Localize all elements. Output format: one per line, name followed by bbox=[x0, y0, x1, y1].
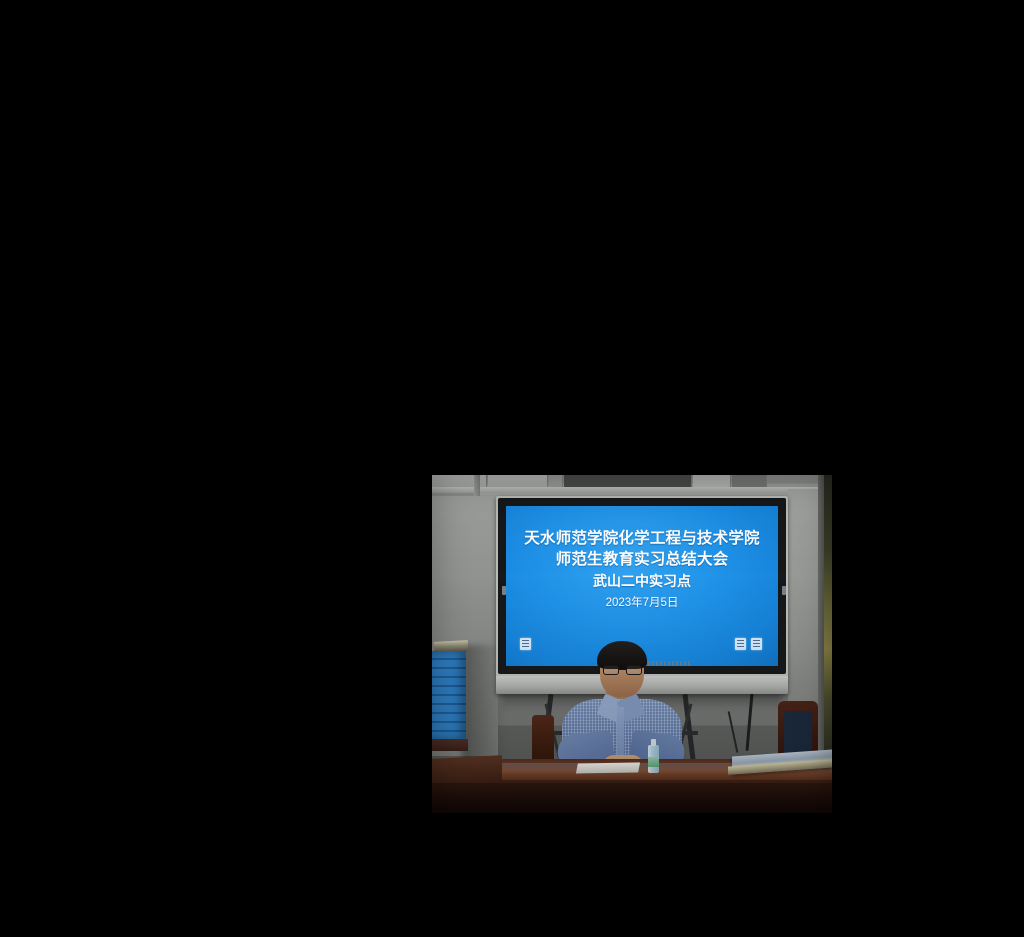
slide-title-line-2: 师范生教育实习总结大会 bbox=[556, 549, 729, 570]
screen-widget-icon-right-2[interactable] bbox=[751, 638, 762, 650]
window-sill bbox=[432, 487, 832, 493]
meeting-room-photo: 天水师范学院化学工程与技术学院 师范生教育实习总结大会 武山二中实习点 2023… bbox=[432, 475, 832, 813]
blue-binder-stack bbox=[432, 651, 466, 739]
water-bottle bbox=[648, 739, 659, 773]
screen-widget-icon-left[interactable] bbox=[520, 638, 531, 650]
conference-desk-front-panel bbox=[432, 783, 832, 813]
window-panel-6 bbox=[732, 475, 767, 487]
eyeglasses-lens-right bbox=[626, 665, 642, 675]
window-panel-5 bbox=[693, 475, 731, 487]
wooden-shelf bbox=[432, 739, 468, 751]
eyeglasses-bridge bbox=[619, 669, 626, 670]
slide-subtitle: 武山二中实习点 bbox=[593, 570, 691, 592]
window-panel-4 bbox=[564, 475, 692, 487]
slide-title-line-1: 天水师范学院化学工程与技术学院 bbox=[524, 528, 760, 549]
wooden-chair-left bbox=[532, 715, 554, 763]
water-bottle-label bbox=[648, 757, 659, 767]
screenshot-canvas: 天水师范学院化学工程与技术学院 师范生教育实习总结大会 武山二中实习点 2023… bbox=[0, 0, 1024, 937]
seated-presenter bbox=[560, 641, 684, 773]
paper-sheets bbox=[576, 762, 640, 773]
wall-banner-right bbox=[824, 475, 832, 775]
slide-date: 2023年7月5日 bbox=[606, 592, 679, 614]
eyeglasses-icon bbox=[602, 665, 644, 675]
eyeglasses-lens-left bbox=[603, 665, 619, 675]
bezel-touch-dot-right[interactable] bbox=[782, 586, 786, 595]
screen-widget-icon-right-1[interactable] bbox=[735, 638, 746, 650]
window-panel-2 bbox=[488, 475, 548, 487]
water-bottle-cap bbox=[651, 739, 656, 746]
